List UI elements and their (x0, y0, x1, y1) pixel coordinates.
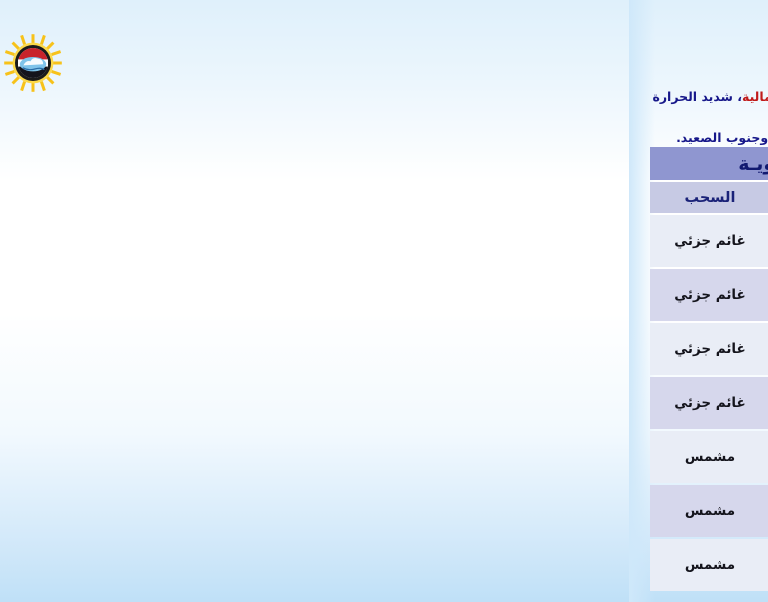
cell-region: السواحل الشمالية الشرقية ووسط سيناء (505, 377, 735, 429)
summary-text-mild-2: معتدل (251, 130, 289, 145)
table-row: جنوب الصعيد4225نشطة أحياناً قد تكون مثير… (21, 539, 735, 591)
cell-clouds: غائم جزئي (21, 377, 141, 429)
cell-clouds: غائم جزئي (21, 215, 141, 267)
table-row: جنوب سيناء و سلاسل جبال البحر الأحمر3623… (21, 431, 735, 483)
col-header-region: المنطقة (505, 147, 735, 213)
cell-clouds: غائم جزئي (21, 269, 141, 321)
cell-temp-max: 42 (445, 539, 503, 591)
cell-wind: نشطة أحياناً (30 كم/س) (143, 215, 383, 267)
cell-wind: نشطة أحياناً قد تكون مثيرة للرمال والأتر… (143, 485, 383, 537)
table-row: شمال الصعيد3418نشطة أحياناً قد تكون مثير… (21, 485, 735, 537)
wind-speed-value: 34 (237, 395, 254, 410)
table-row: القـــاهرة الكبرى3018نشطة أحياناً (30 كم… (21, 215, 735, 267)
table-row: الوجه البحرى2918نشطة أحياناً (30 كم/س)غا… (21, 269, 735, 321)
wind-speed-value: 30 (209, 565, 224, 577)
cell-temp-min: 18 (385, 269, 443, 321)
cell-clouds: مشمس (21, 539, 141, 591)
summary-text-2a: وجنوب الصعيد، مائل للبرودة لـيـلاً على ش… (289, 130, 721, 145)
wind-speed-value: 32 (209, 511, 224, 523)
wind-description: نشطة أحياناً ( (254, 395, 338, 410)
wind-description: نشطة أحياناً ( (254, 341, 338, 356)
forecast-summary: ✦طـقس حار نهاراً على القـاهرة الكـبرى وا… (14, 87, 754, 148)
table-header-row-top: المنطقة درجـــة الحــــرارةالعظمى الصغرى… (21, 147, 735, 180)
cell-temp-min: 25 (385, 539, 443, 591)
wind-description: معتدلة ( (272, 449, 323, 464)
cell-wind: نشطة أحياناً (30 كم/س) (143, 269, 383, 321)
table-body: القـــاهرة الكبرى3018نشطة أحياناً (30 كم… (21, 215, 735, 591)
col-header-clouds: السحب (21, 182, 141, 213)
weather-forecast-table: المنطقة درجـــة الحــــرارةالعظمى الصغرى… (19, 145, 737, 593)
cell-temp-max: 25 (445, 377, 503, 429)
page-header: الهيئة العامة للأرصاد الجوية الإدارة الع… (0, 0, 768, 86)
cell-wind: نشطة أحياناً (34 كم/س) (143, 377, 383, 429)
wind-speed-value: 28 (254, 449, 272, 464)
cell-clouds: مشمس (21, 485, 141, 537)
wind-speed-value: 30 (237, 233, 254, 248)
col-header-phenomena: الظـــواهـر الجــويـة (21, 147, 383, 180)
summary-text-mild-1: معتدل على السواحل الشمالية (113, 89, 296, 104)
wind-speed-unit: كم/س) (188, 395, 237, 410)
cell-region: شمال الصعيد (505, 485, 735, 537)
summary-text-hot: حار نهاراً (630, 89, 684, 104)
org-authority-name: الهيئة العامة للأرصاد الجوية (488, 29, 756, 46)
temp-header-max-label: العظمى (387, 182, 422, 192)
wind-description: نشطة أحياناً ( (254, 233, 338, 248)
table-row: السواحل الشمالية الغربية2417نشطة أحياناً… (21, 323, 735, 375)
cell-region: الوجه البحرى (505, 269, 735, 321)
cell-temp-max: 29 (445, 269, 503, 321)
wind-speed-unit: كم/س) (188, 233, 237, 248)
cell-temp-max: 34 (445, 485, 503, 537)
table-row: السواحل الشمالية الشرقية ووسط سيناء2518ن… (21, 377, 735, 429)
cell-temp-max: 30 (445, 215, 503, 267)
cell-temp-min: 23 (385, 431, 443, 483)
cell-region: القـــاهرة الكبرى (505, 215, 735, 267)
org-department-name: الإدارة العامة للتنبؤات والإنذار المبكر (488, 46, 756, 61)
wind-speed-unit: كم/س) (203, 449, 254, 464)
cell-clouds: غائم جزئي (21, 323, 141, 375)
cell-temp-min: 18 (385, 215, 443, 267)
wind-speed-value: 30 (237, 287, 254, 302)
logo-container (32, 14, 114, 82)
organization-block: الهيئة العامة للأرصاد الجوية الإدارة الع… (488, 29, 756, 61)
page-title: الظـواهر الجوية المتـوقع (196, 24, 496, 51)
diamond-bullet-icon: ✦ (735, 90, 744, 103)
cell-temp-min: 18 (385, 377, 443, 429)
cell-region: السواحل الشمالية الغربية (505, 323, 735, 375)
wind-speed-unit: كم/س) (171, 511, 208, 523)
cell-temp-min: 17 (385, 323, 443, 375)
forecast-date: يوم السبت 11 مايو 2024 (196, 52, 496, 75)
wind-speed-unit: كم/س) (188, 341, 237, 356)
cell-wind: نشطة أحياناً قد تكون مثيرة للرمال والأتر… (143, 539, 383, 591)
cell-wind: معتدلة (28 كم/س) (143, 431, 383, 483)
table-head: المنطقة درجـــة الحــــرارةالعظمى الصغرى… (21, 147, 735, 213)
summary-text-2b: على جنوب سيناء وجنوب الصعيد. (47, 130, 251, 145)
title-block: الظـواهر الجوية المتـوقع يوم السبت 11 ما… (196, 24, 496, 75)
wind-description: نشطة أحياناً ( (254, 287, 338, 302)
cell-temp-min: 18 (385, 485, 443, 537)
col-header-wind: الريـاح (143, 182, 383, 213)
summary-text-1b: على القـاهرة الكـبرى والوجـه البحـرى وشم… (296, 89, 629, 104)
wind-speed-unit: كم/س) (171, 565, 208, 577)
cell-temp-max: 36 (445, 431, 503, 483)
weather-table-container: المنطقة درجـــة الحــــرارةالعظمى الصغرى… (31, 145, 737, 593)
summary-text-1a: طـقس (684, 89, 731, 104)
cell-clouds: مشمس (21, 431, 141, 483)
cell-region: جنوب الصعيد (505, 539, 735, 591)
col-header-temperature: درجـــة الحــــرارةالعظمى الصغرى (385, 147, 503, 213)
wind-speed-unit: كم/س) (188, 287, 237, 302)
cell-region: جنوب سيناء و سلاسل جبال البحر الأحمر (505, 431, 735, 483)
cell-wind: نشطة أحياناً (32 كم/س) (143, 323, 383, 375)
wind-speed-value: 32 (237, 341, 254, 356)
cell-temp-max: 24 (445, 323, 503, 375)
